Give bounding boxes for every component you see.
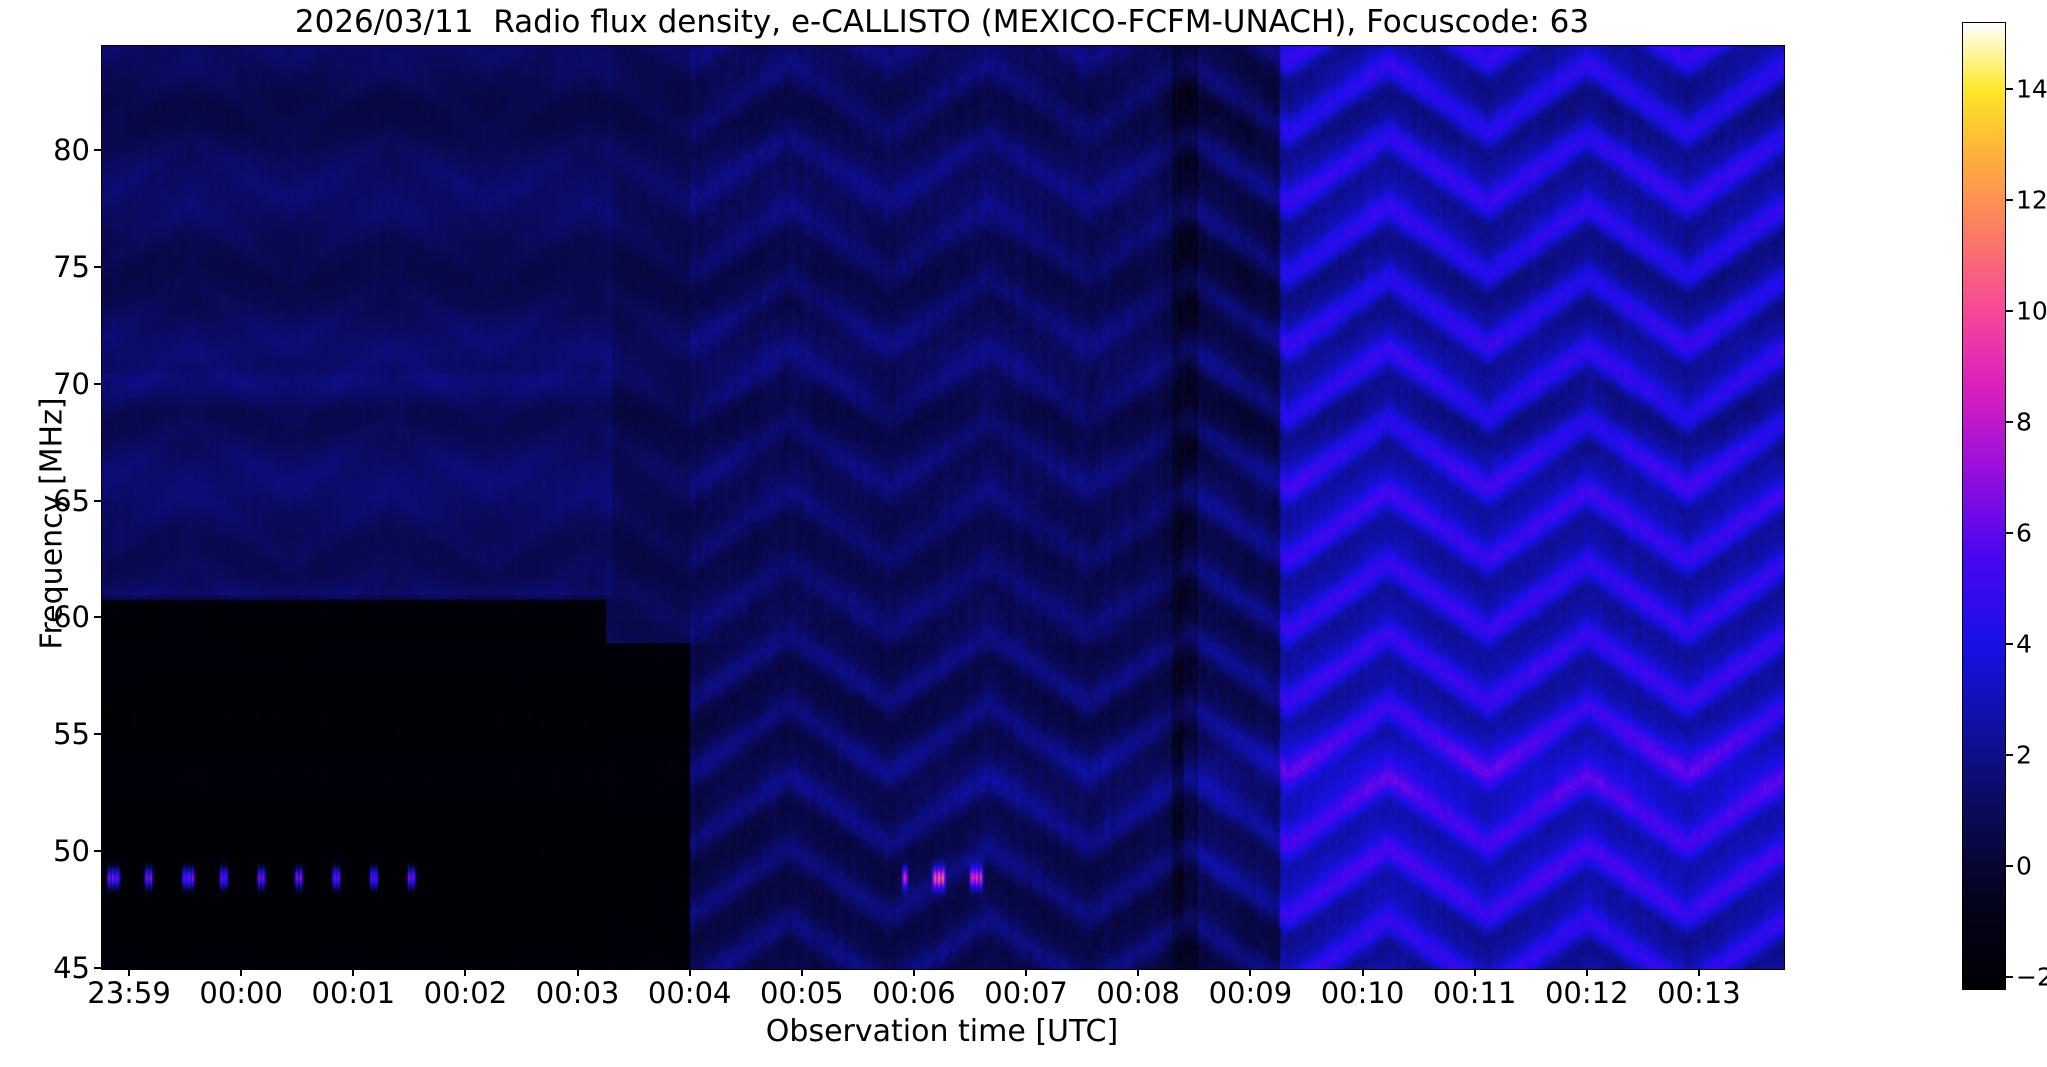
x-axis-label: Observation time [UTC] (101, 1014, 1783, 1049)
colorbar-tick-label: 10 (2016, 296, 2047, 325)
y-tick-label: 65 (0, 484, 90, 518)
y-axis-label: Frequency [MHz] (35, 264, 70, 784)
y-tick-mark (94, 383, 102, 385)
colorbar-tick-mark (2005, 865, 2013, 867)
x-tick-label: 00:09 (1209, 976, 1293, 1010)
colorbar-tick-mark (2005, 421, 2013, 423)
y-tick-mark (94, 616, 102, 618)
colorbar-tick-label: −2 (2016, 962, 2047, 991)
y-tick-mark (94, 967, 102, 969)
y-tick-label: 55 (0, 717, 90, 751)
y-tick-label: 80 (0, 133, 90, 167)
x-tick-mark (352, 968, 354, 976)
x-tick-label: 00:06 (872, 976, 956, 1010)
x-tick-label: 00:12 (1545, 976, 1629, 1010)
y-tick-mark (94, 266, 102, 268)
colorbar-tick-mark (2005, 532, 2013, 534)
x-tick-label: 00:08 (1096, 976, 1180, 1010)
x-tick-label: 00:10 (1321, 976, 1405, 1010)
x-tick-label: 00:11 (1433, 976, 1517, 1010)
colorbar-gradient (1963, 23, 2005, 989)
colorbar-tick-mark (2005, 643, 2013, 645)
colorbar-tick-label: 4 (2016, 629, 2032, 658)
x-tick-label: 00:03 (536, 976, 620, 1010)
colorbar-tick-label: 12 (2016, 185, 2047, 214)
colorbar-tick-label: 2 (2016, 740, 2032, 769)
x-tick-label: 23:59 (87, 976, 171, 1010)
spectrogram-image (102, 46, 1784, 969)
y-tick-label: 45 (0, 951, 90, 985)
x-tick-mark (1474, 968, 1476, 976)
colorbar-tick-mark (2005, 754, 2013, 756)
x-tick-mark (689, 968, 691, 976)
colorbar-tick-mark (2005, 199, 2013, 201)
x-tick-label: 00:02 (424, 976, 508, 1010)
x-tick-mark (128, 968, 130, 976)
x-tick-mark (1025, 968, 1027, 976)
colorbar-tick-label: 6 (2016, 518, 2032, 547)
y-tick-mark (94, 500, 102, 502)
colorbar-tick-label: 8 (2016, 407, 2032, 436)
x-tick-label: 00:05 (760, 976, 844, 1010)
x-tick-label: 00:07 (984, 976, 1068, 1010)
spectrogram-axes (101, 45, 1785, 970)
x-tick-mark (1362, 968, 1364, 976)
spectrogram-figure: 2026/03/11 Radio flux density, e-CALLIST… (0, 0, 2047, 1067)
x-tick-mark (913, 968, 915, 976)
y-tick-label: 75 (0, 250, 90, 284)
x-tick-label: 00:00 (199, 976, 283, 1010)
x-tick-label: 00:01 (312, 976, 396, 1010)
x-tick-mark (577, 968, 579, 976)
colorbar-tick-label: 14 (2016, 74, 2047, 103)
x-tick-mark (1586, 968, 1588, 976)
y-tick-label: 70 (0, 367, 90, 401)
colorbar-tick-mark (2005, 88, 2013, 90)
x-tick-mark (1698, 968, 1700, 976)
x-tick-label: 00:04 (648, 976, 732, 1010)
y-tick-mark (94, 850, 102, 852)
y-tick-label: 50 (0, 834, 90, 868)
x-tick-mark (1137, 968, 1139, 976)
x-tick-label: 00:13 (1657, 976, 1741, 1010)
y-tick-mark (94, 733, 102, 735)
y-tick-label: 60 (0, 600, 90, 634)
colorbar-tick-mark (2005, 976, 2013, 978)
colorbar (1962, 22, 2006, 990)
y-tick-mark (94, 149, 102, 151)
x-tick-mark (240, 968, 242, 976)
figure-title: 2026/03/11 Radio flux density, e-CALLIST… (101, 4, 1783, 40)
colorbar-tick-mark (2005, 310, 2013, 312)
x-tick-mark (801, 968, 803, 976)
x-tick-mark (1249, 968, 1251, 976)
colorbar-tick-label: 0 (2016, 851, 2032, 880)
x-tick-mark (464, 968, 466, 976)
